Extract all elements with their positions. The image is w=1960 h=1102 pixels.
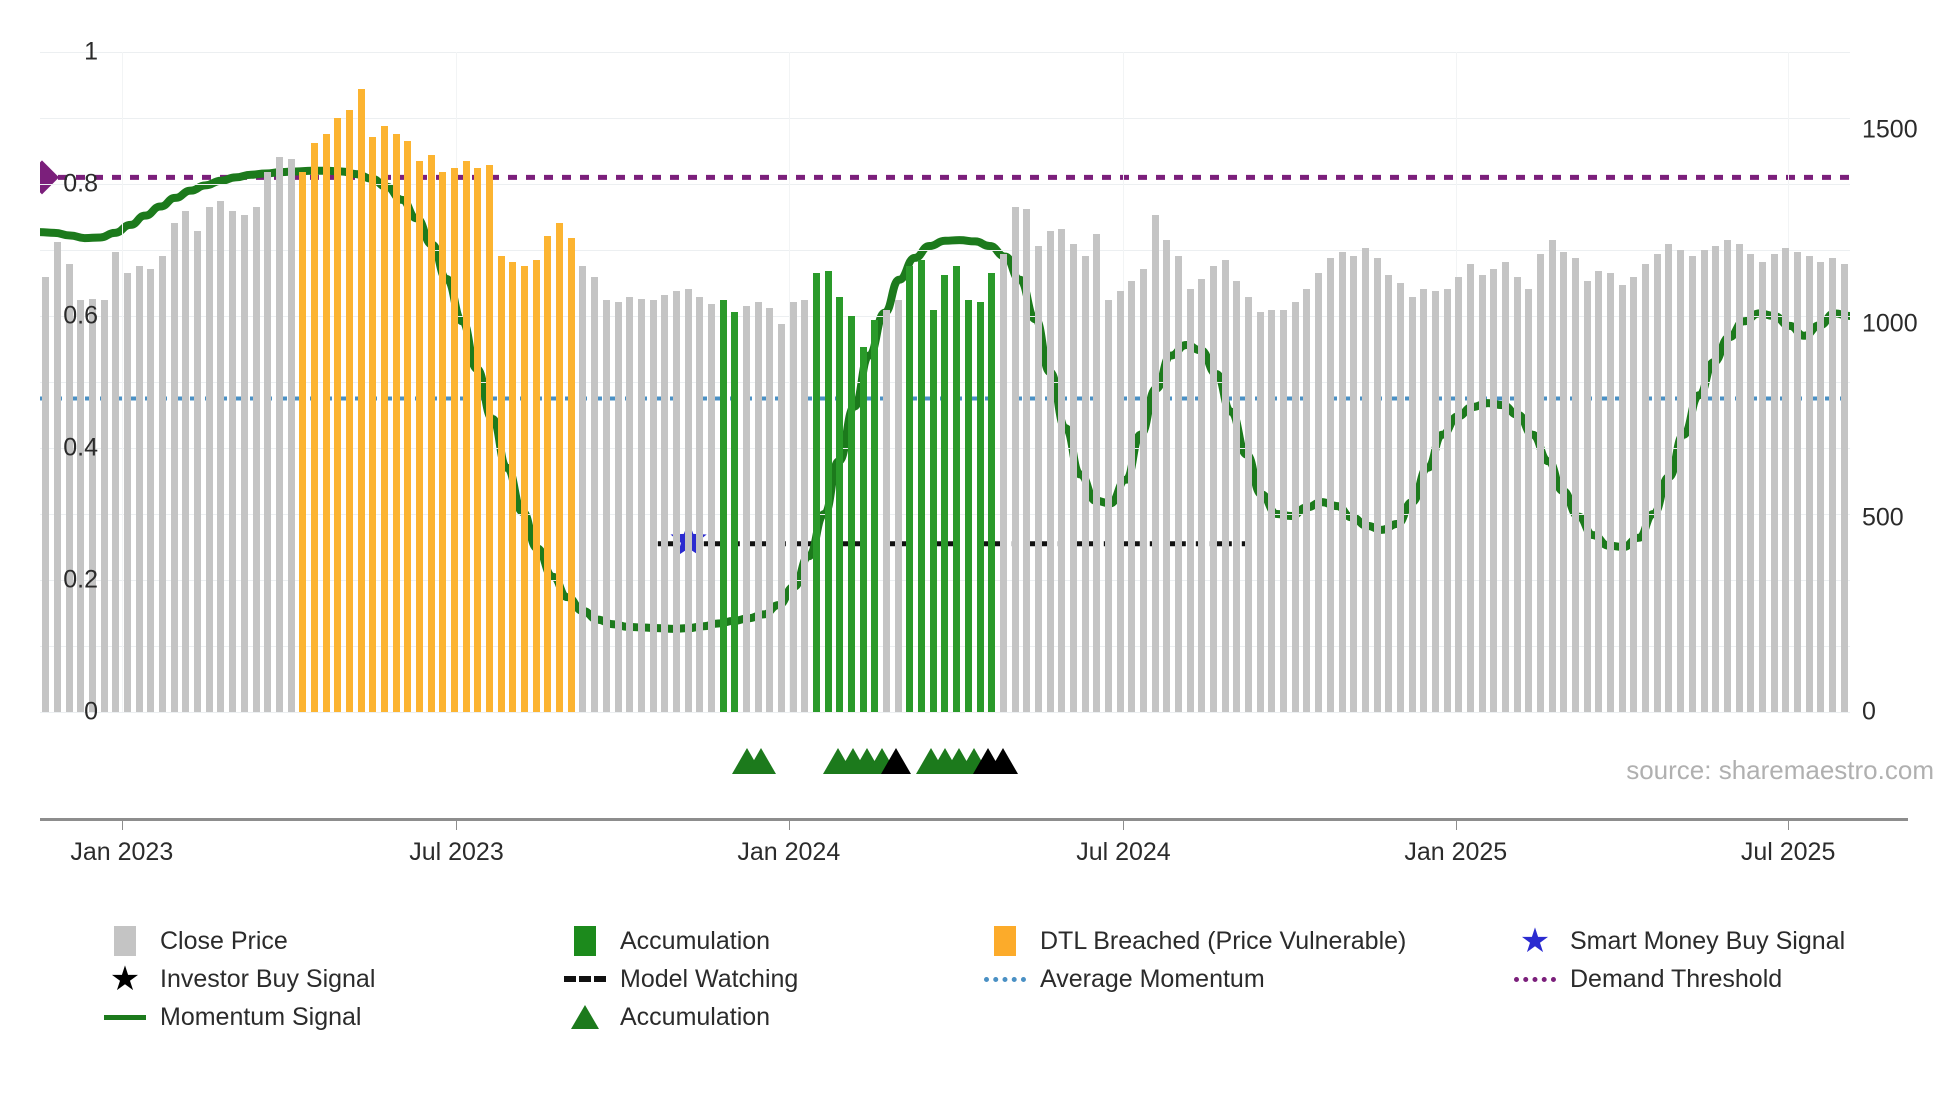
close-price-bar [182, 211, 189, 712]
close-price-bar [1303, 289, 1310, 712]
chart-plot-area [40, 52, 1850, 712]
close-price-bar [1280, 310, 1287, 712]
close-price-bar [1047, 231, 1054, 712]
legend-dtl-breached[interactable]: DTL Breached (Price Vulnerable) [984, 926, 1514, 956]
dashed-line-swatch-icon [564, 976, 606, 982]
close-price-bar [603, 300, 610, 712]
close-price-bar [1665, 244, 1672, 712]
close-price-bar [42, 277, 49, 712]
close-price-bar [1502, 262, 1509, 712]
x-axis-tick [456, 818, 457, 830]
x-axis-tick [122, 818, 123, 830]
gridline [40, 52, 1850, 53]
legend-model-watching[interactable]: Model Watching [564, 965, 984, 994]
dtl-breached-bar [358, 89, 365, 712]
legend-smart-money[interactable]: ★Smart Money Buy Signal [1514, 924, 1904, 958]
close-price-bar [1677, 250, 1684, 712]
close-price-bar [1584, 281, 1591, 712]
close-price-bar [147, 269, 154, 712]
dtl-breached-bar [521, 266, 528, 712]
close-price-bar [1455, 277, 1462, 712]
close-price-bar [1000, 254, 1007, 712]
dotted-line-swatch-icon [1514, 977, 1556, 982]
dtl-breached-bar [404, 141, 411, 712]
close-price-bar [650, 300, 657, 712]
accumulation-bar [977, 302, 984, 712]
demand-threshold-marker [40, 160, 59, 194]
close-price-bar [1572, 258, 1579, 712]
close-price-bar [1782, 248, 1789, 712]
close-price-bar [1198, 279, 1205, 712]
dtl-breached-bar [556, 223, 563, 712]
y-axis-left-tick-label: 0.2 [63, 566, 98, 595]
close-price-bar [1362, 248, 1369, 712]
close-price-bar [1117, 291, 1124, 712]
close-price-bar [1163, 240, 1170, 712]
dtl-breached-bar [369, 137, 376, 712]
close-price-bar [1829, 258, 1836, 712]
legend-label: Momentum Signal [160, 1003, 361, 1032]
accumulation-bar [836, 297, 843, 712]
gridline [40, 118, 1850, 119]
dtl-breached-bar [299, 172, 306, 712]
dtl-breached-bar [393, 134, 400, 712]
close-price-bar [708, 304, 715, 712]
legend-demand-threshold[interactable]: Demand Threshold [1514, 965, 1904, 994]
close-price-bar [1350, 256, 1357, 712]
dtl-breached-bar [544, 236, 551, 712]
close-price-bar [1374, 258, 1381, 712]
dtl-breached-bar [533, 260, 540, 712]
close-price-bar [755, 302, 762, 712]
close-price-bar [801, 300, 808, 712]
close-price-bar [615, 302, 622, 712]
close-price-bar [1689, 256, 1696, 712]
close-price-bar [1327, 258, 1334, 712]
y-axis-left-tick-label: 0.6 [63, 302, 98, 331]
close-price-bar [1023, 209, 1030, 712]
close-price-bar [1560, 252, 1567, 712]
accumulation-bar [860, 347, 867, 712]
y-axis-left-tick-label: 0.8 [63, 170, 98, 199]
dtl-breached-bar [486, 165, 493, 712]
legend-label: Investor Buy Signal [160, 965, 375, 994]
legend-label: Average Momentum [1040, 965, 1265, 994]
chart-page: 00.20.40.60.81 050010001500 Jan 2023Jul … [0, 0, 1960, 1102]
close-price-bar [136, 266, 143, 712]
close-price-bar [1759, 262, 1766, 712]
square-swatch-icon [994, 926, 1016, 956]
close-price-bar [1549, 240, 1556, 712]
close-price-bar [1397, 283, 1404, 712]
x-axis-tick-label: Jan 2023 [70, 838, 173, 867]
close-price-bar [883, 310, 890, 712]
close-price-bar [1315, 273, 1322, 712]
x-axis-tick [1456, 818, 1457, 830]
close-price-bar [1093, 234, 1100, 712]
accumulation-bar [871, 320, 878, 712]
x-axis-tick-label: Jul 2025 [1741, 838, 1836, 867]
close-price-bar [638, 299, 645, 712]
close-price-bar [1794, 252, 1801, 712]
dtl-breached-bar [416, 161, 423, 712]
close-price-bar [241, 215, 248, 712]
close-price-bar [661, 295, 668, 712]
close-price-bar [1537, 254, 1544, 712]
close-price-bar [1712, 246, 1719, 712]
accumulation-bar [825, 271, 832, 712]
close-price-bar [1140, 269, 1147, 712]
dtl-breached-bar [568, 238, 575, 712]
close-price-bar [766, 308, 773, 712]
close-price-bar [696, 297, 703, 712]
dtl-breached-bar [509, 262, 516, 712]
close-price-bar [101, 300, 108, 712]
source-attribution: source: sharemaestro.com [1626, 755, 1934, 786]
close-price-bar [1339, 252, 1346, 712]
close-price-bar [1490, 269, 1497, 712]
x-axis-tick [1123, 818, 1124, 830]
close-price-bar [1035, 246, 1042, 712]
close-price-bar [89, 299, 96, 712]
close-price-bar [1268, 310, 1275, 712]
x-axis-tick [789, 818, 790, 830]
investor-buy-signal-marker [988, 748, 1018, 774]
close-price-bar [1012, 207, 1019, 712]
close-price-bar [1292, 302, 1299, 712]
dtl-breached-bar [346, 110, 353, 712]
square-swatch-icon [114, 926, 136, 956]
accumulation-bar [988, 273, 995, 712]
chart-legend: Close PriceAccumulationDTL Breached (Pri… [104, 922, 1904, 1036]
close-price-bar [1409, 297, 1416, 712]
legend-momentum-signal[interactable]: Momentum Signal [104, 1003, 564, 1032]
dtl-breached-bar [428, 155, 435, 712]
y-axis-right-tick-label: 0 [1862, 698, 1876, 727]
line-swatch-icon [104, 1015, 146, 1020]
close-price-bar [1514, 277, 1521, 712]
legend-label: DTL Breached (Price Vulnerable) [1040, 927, 1406, 956]
legend-close-price[interactable]: Close Price [104, 926, 564, 956]
dtl-breached-bar [439, 172, 446, 712]
accumulation-bar [965, 300, 972, 712]
close-price-bar [1420, 289, 1427, 712]
y-axis-right-tick-label: 1000 [1862, 309, 1918, 338]
close-price-bar [1817, 262, 1824, 712]
accumulation-bar [918, 260, 925, 712]
close-price-bar [253, 207, 260, 712]
close-price-bar [1525, 289, 1532, 712]
close-price-bar [1595, 271, 1602, 712]
accumulation-bar [720, 300, 727, 712]
legend-label: Accumulation [620, 1003, 770, 1032]
close-price-bar [1444, 289, 1451, 712]
accumulation-marker [746, 748, 776, 774]
close-price-bar [66, 264, 73, 712]
accumulation-bar [731, 312, 738, 712]
close-price-bar [206, 207, 213, 712]
close-price-bar [895, 300, 902, 712]
gridline [40, 712, 1850, 713]
plot-inner [40, 52, 1850, 712]
legend-label: Smart Money Buy Signal [1570, 927, 1845, 956]
close-price-bar [217, 201, 224, 712]
accumulation-bar [930, 310, 937, 712]
close-price-bar [743, 306, 750, 712]
dtl-breached-bar [474, 168, 481, 712]
close-price-bar [229, 211, 236, 712]
dtl-breached-bar [451, 168, 458, 712]
accumulation-bar [813, 273, 820, 712]
close-price-bar [778, 324, 785, 712]
close-price-bar [1385, 275, 1392, 712]
close-price-bar [1736, 244, 1743, 712]
legend-label: Demand Threshold [1570, 965, 1782, 994]
x-axis-tick-label: Jan 2024 [737, 838, 840, 867]
accumulation-bar [941, 275, 948, 712]
dtl-breached-bar [498, 256, 505, 712]
close-price-bar [1233, 281, 1240, 712]
square-swatch-icon [574, 926, 596, 956]
legend-accumulation-bar[interactable]: Accumulation [564, 926, 984, 956]
close-price-bar [1619, 285, 1626, 712]
close-price-bar [1257, 312, 1264, 712]
close-price-bar [276, 157, 283, 712]
x-axis-tick-label: Jul 2023 [409, 838, 504, 867]
close-price-bar [1105, 300, 1112, 712]
close-price-bar [1654, 254, 1661, 712]
close-price-bar [1187, 289, 1194, 712]
close-price-bar [77, 300, 84, 712]
close-price-bar [1701, 250, 1708, 712]
y-axis-left-tick-label: 0.4 [63, 434, 98, 463]
star-swatch-icon: ★ [1520, 924, 1550, 958]
close-price-bar [124, 273, 131, 712]
close-price-bar [1152, 215, 1159, 712]
close-price-bar [1222, 260, 1229, 712]
investor-buy-signal-marker [881, 748, 911, 774]
close-price-bar [159, 256, 166, 712]
close-price-bar [1432, 291, 1439, 712]
x-axis-tick-label: Jul 2024 [1076, 838, 1171, 867]
accumulation-bar [906, 266, 913, 712]
close-price-bar [1175, 256, 1182, 712]
close-price-bar [1467, 264, 1474, 712]
legend-accumulation-marker[interactable]: Accumulation [564, 1003, 984, 1032]
y-axis-left-tick-label: 1 [84, 38, 98, 67]
y-axis-right-tick-label: 500 [1862, 503, 1904, 532]
legend-average-momentum[interactable]: Average Momentum [984, 965, 1514, 994]
close-price-bar [1082, 256, 1089, 712]
close-price-bar [112, 252, 119, 712]
close-price-bar [1771, 254, 1778, 712]
x-axis-line [40, 818, 1908, 821]
close-price-bar [1128, 281, 1135, 712]
y-axis-right-tick-label: 1500 [1862, 115, 1918, 144]
dtl-breached-bar [463, 161, 470, 712]
close-price-bar [1245, 297, 1252, 712]
x-axis-tick-label: Jan 2025 [1404, 838, 1507, 867]
dtl-breached-bar [334, 118, 341, 712]
legend-investor-buy[interactable]: ★Investor Buy Signal [104, 962, 564, 996]
close-price-bar [1642, 264, 1649, 712]
star-swatch-icon: ★ [110, 962, 140, 996]
triangle-swatch-icon [571, 1005, 599, 1029]
close-price-bar [1841, 264, 1848, 712]
accumulation-bar [953, 266, 960, 712]
close-price-bar [54, 242, 61, 712]
close-price-bar [1479, 275, 1486, 712]
close-price-bar [1630, 277, 1637, 712]
close-price-bar [194, 231, 201, 712]
x-axis-tick [1788, 818, 1789, 830]
legend-label: Model Watching [620, 965, 798, 994]
dotted-line-swatch-icon [984, 977, 1026, 982]
close-price-bar [288, 159, 295, 712]
vertical-gridline [122, 52, 123, 712]
dtl-breached-bar [381, 126, 388, 712]
close-price-bar [685, 289, 692, 712]
close-price-bar [591, 277, 598, 712]
close-price-bar [1724, 240, 1731, 712]
close-price-bar [1210, 266, 1217, 712]
close-price-bar [1058, 229, 1065, 712]
legend-label: Accumulation [620, 927, 770, 956]
dtl-breached-bar [323, 134, 330, 712]
close-price-bar [264, 172, 271, 712]
close-price-bar [171, 223, 178, 712]
close-price-bar [673, 291, 680, 712]
close-price-bar [579, 266, 586, 712]
close-price-bar [1806, 256, 1813, 712]
close-price-bar [790, 302, 797, 712]
close-price-bar [1070, 244, 1077, 712]
accumulation-bar [848, 316, 855, 712]
y-axis-left-tick-label: 0 [84, 698, 98, 727]
close-price-bar [1747, 254, 1754, 712]
dtl-breached-bar [311, 143, 318, 712]
close-price-bar [1607, 273, 1614, 712]
close-price-bar [626, 297, 633, 712]
legend-label: Close Price [160, 927, 288, 956]
